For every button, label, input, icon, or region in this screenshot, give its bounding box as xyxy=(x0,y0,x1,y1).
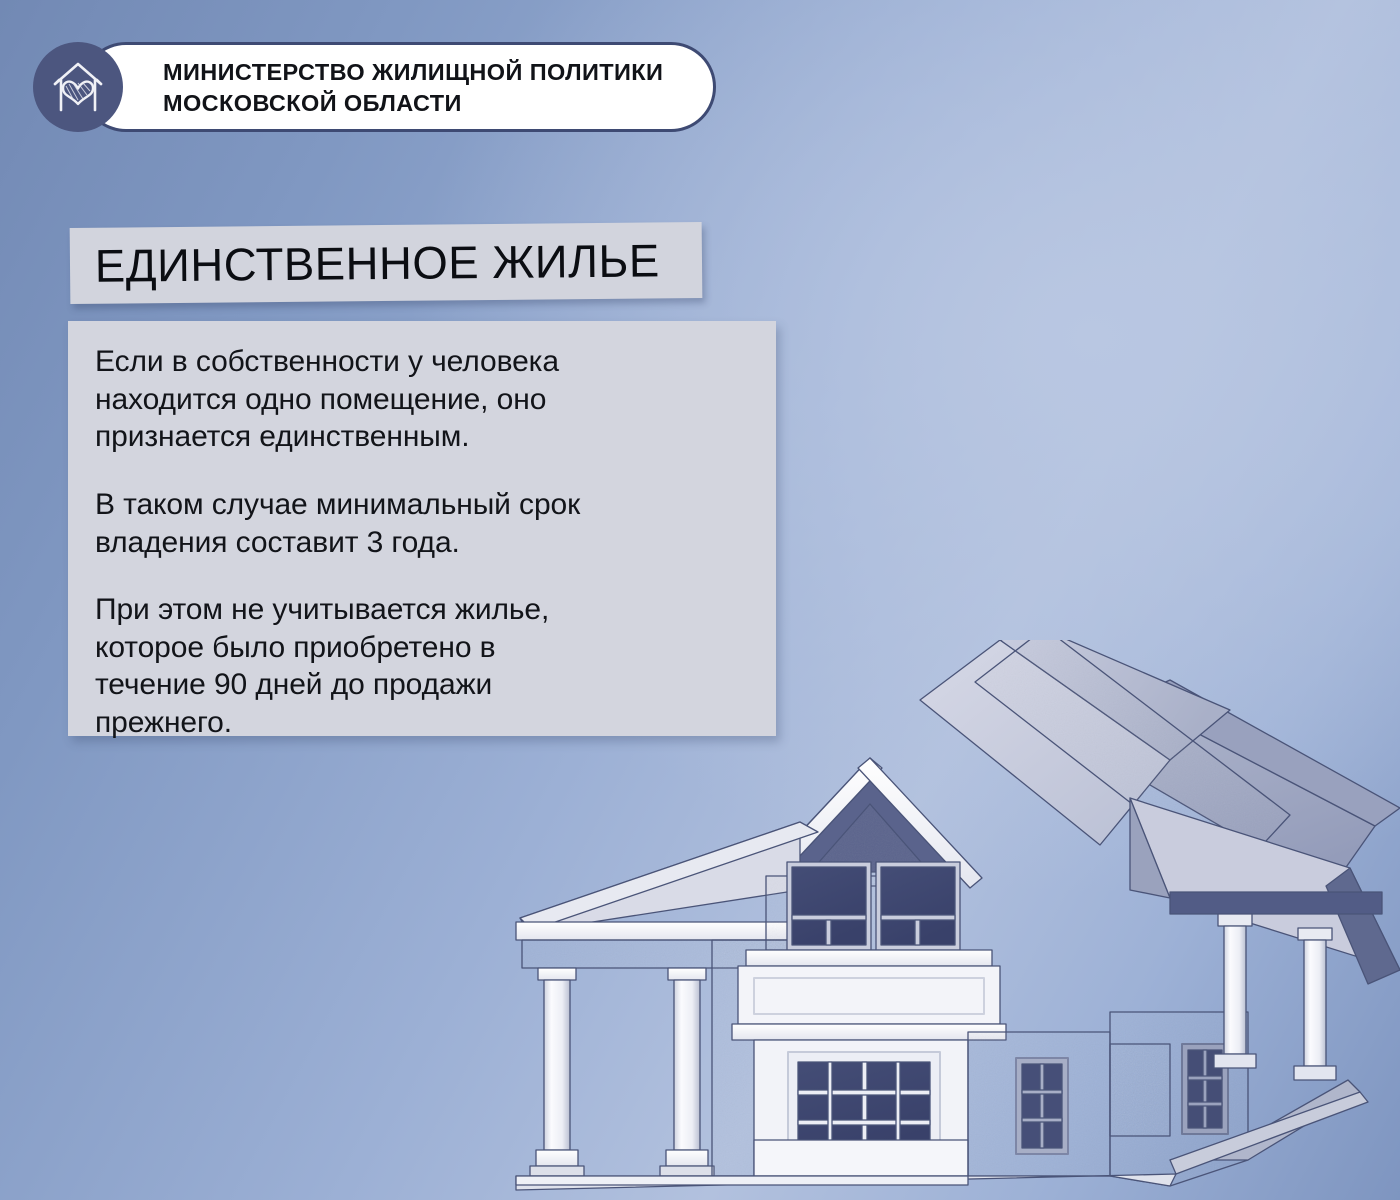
house-with-heart-icon xyxy=(33,42,123,132)
upper-window-left xyxy=(787,862,871,950)
side-window-narrow xyxy=(1016,1058,1068,1154)
organization-name: МИНИСТЕРСТВО ЖИЛИЩНОЙ ПОЛИТИКИ МОСКОВСКО… xyxy=(163,57,708,119)
upper-window-right xyxy=(876,862,960,950)
title-banner: ЕДИНСТВЕННОЕ ЖИЛЬЕ xyxy=(70,222,703,304)
paragraph-2: В таком случае минимальный срок владения… xyxy=(95,486,750,561)
infographic-canvas: МИНИСТЕРСТВО ЖИЛИЩНОЙ ПОЛИТИКИ МОСКОВСКО… xyxy=(0,0,1400,1200)
page-title: ЕДИНСТВЕННОЕ ЖИЛЬЕ xyxy=(95,233,660,292)
logo-badge xyxy=(33,42,123,132)
house-illustration xyxy=(470,640,1400,1200)
paragraph-1: Если в собственности у человека находитс… xyxy=(95,343,750,456)
suburban-house-graphic xyxy=(470,640,1400,1200)
